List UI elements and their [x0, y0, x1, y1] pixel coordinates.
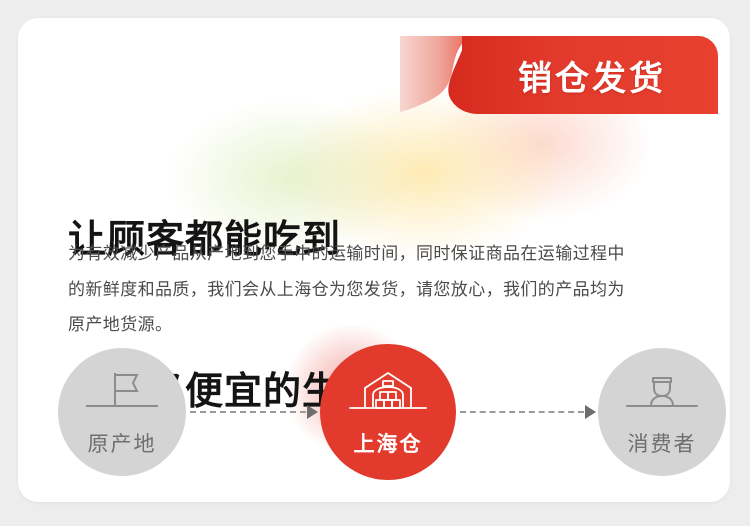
paragraph-line-1: 为有效减少产品从产地到您手中的运输时间，同时保证商品在运输过程中: [68, 236, 678, 272]
flow-node-warehouse: 上海仓: [320, 344, 456, 480]
flow-arrow-1: [190, 406, 318, 418]
arrow-head-icon: [585, 405, 596, 419]
body-paragraph: 为有效减少产品从产地到您手中的运输时间，同时保证商品在运输过程中 的新鲜度和品质…: [68, 236, 678, 343]
flag-icon: [85, 368, 159, 416]
flow-node-origin-label: 原产地: [88, 428, 157, 458]
paragraph-line-3: 原产地货源。: [68, 307, 678, 343]
paragraph-line-2: 的新鲜度和品质，我们会从上海仓为您发货，请您放心，我们的产品均为: [68, 272, 678, 308]
person-icon: [625, 368, 699, 416]
promo-card: 销仓发货 让顾客都能吃到 又好又便宜的生鲜! 为有效减少产品从产地到您手中的运输…: [18, 18, 730, 502]
arrow-dashed-line: [190, 411, 306, 413]
arrow-head-icon: [307, 405, 318, 419]
flow-arrow-2: [460, 406, 596, 418]
supply-chain-flow: 原产地: [52, 348, 730, 488]
banner-ribbon: 销仓发货: [400, 36, 718, 114]
flow-node-consumer-label: 消费者: [628, 428, 697, 458]
warehouse-icon: [347, 368, 429, 416]
page-root: 销仓发货 让顾客都能吃到 又好又便宜的生鲜! 为有效减少产品从产地到您手中的运输…: [0, 0, 750, 526]
flow-node-origin: 原产地: [58, 348, 186, 476]
arrow-dashed-line: [460, 411, 584, 413]
flow-node-consumer: 消费者: [598, 348, 726, 476]
flow-node-warehouse-label: 上海仓: [354, 428, 423, 458]
banner-title: 销仓发货: [400, 36, 718, 114]
